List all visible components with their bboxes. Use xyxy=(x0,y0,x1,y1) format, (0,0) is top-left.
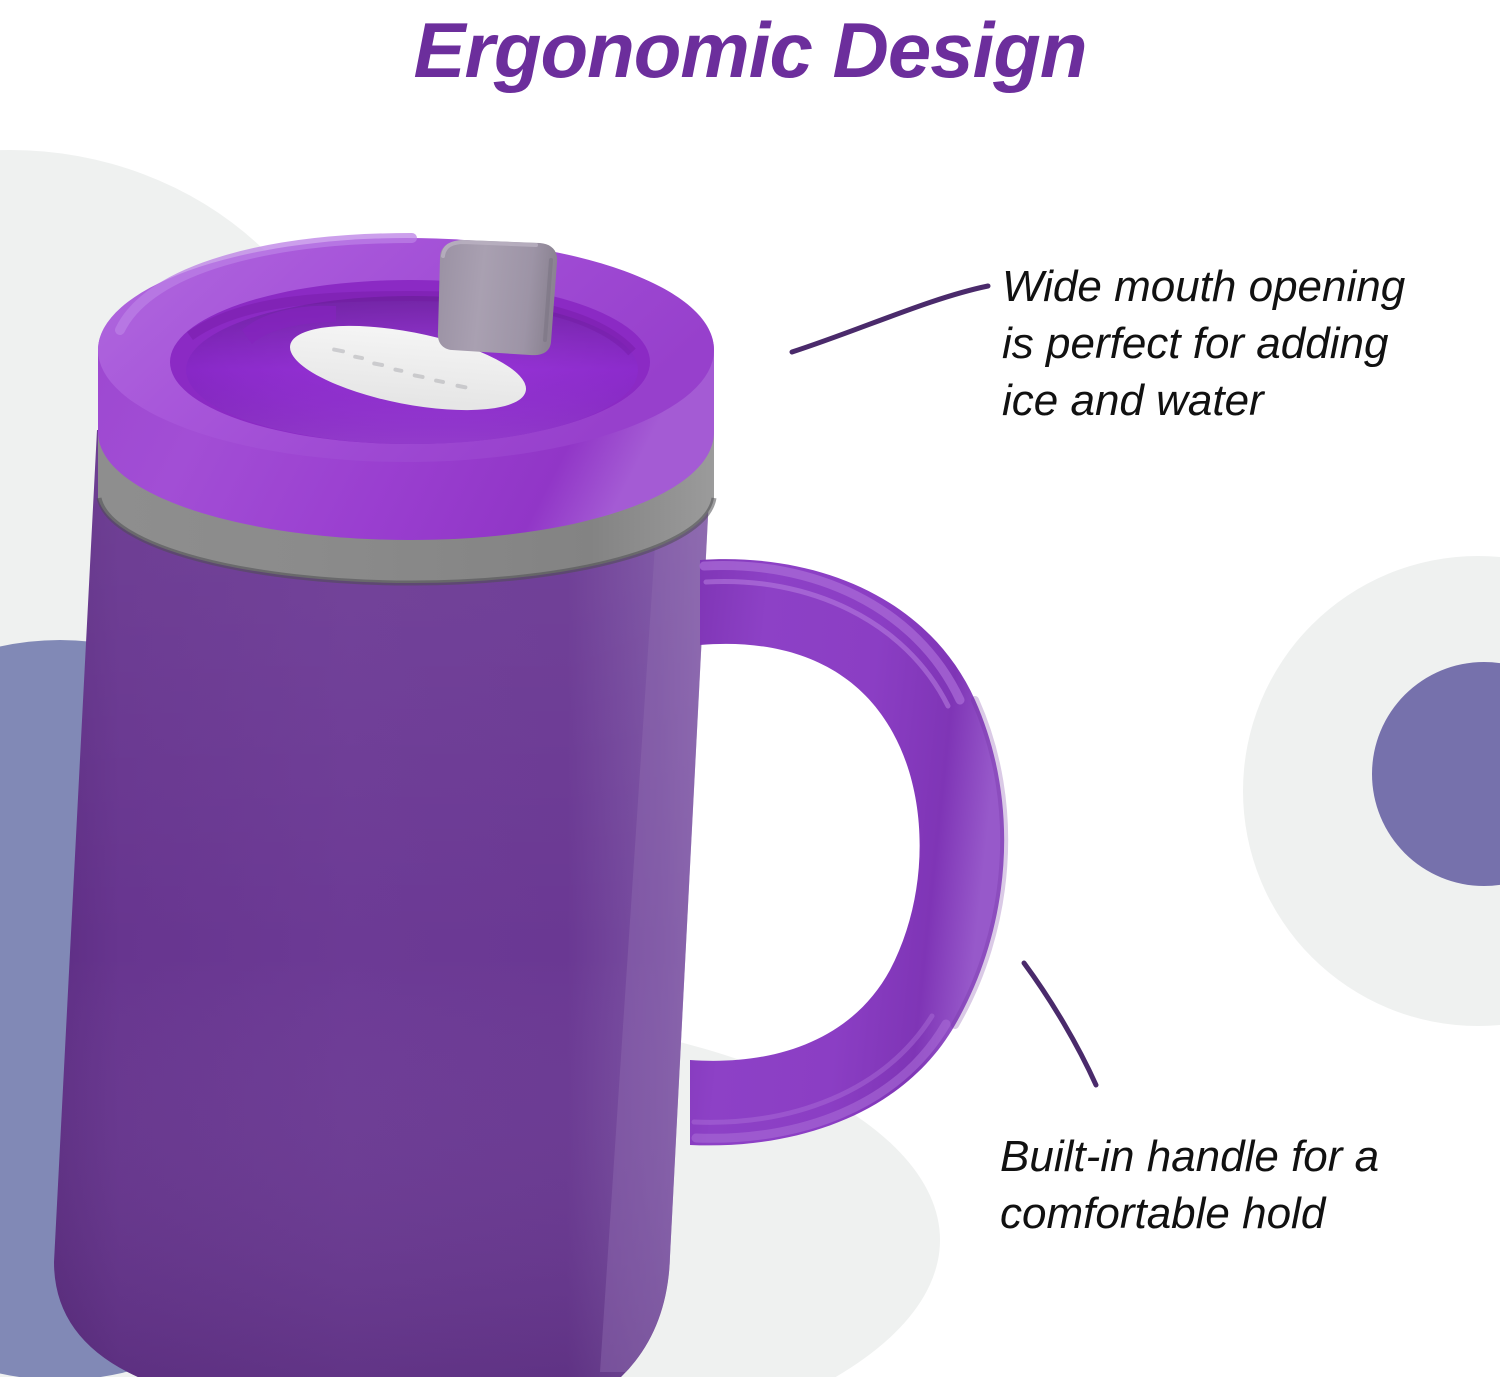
mug-handle xyxy=(690,559,1004,1145)
product-infographic: Ergonomic Design xyxy=(0,0,1500,1377)
callout-text-wide-mouth: Wide mouth opening is perfect for adding… xyxy=(1002,258,1432,429)
lid-flip-tab xyxy=(438,240,557,355)
mug-lid xyxy=(98,238,714,540)
callout-text-built-in-handle: Built-in handle for a comfortable hold xyxy=(1000,1128,1420,1242)
leader-line-wide-mouth xyxy=(780,260,1000,370)
leader-line-handle xyxy=(1000,945,1130,1105)
product-image-insulated-mug xyxy=(0,0,1060,1377)
